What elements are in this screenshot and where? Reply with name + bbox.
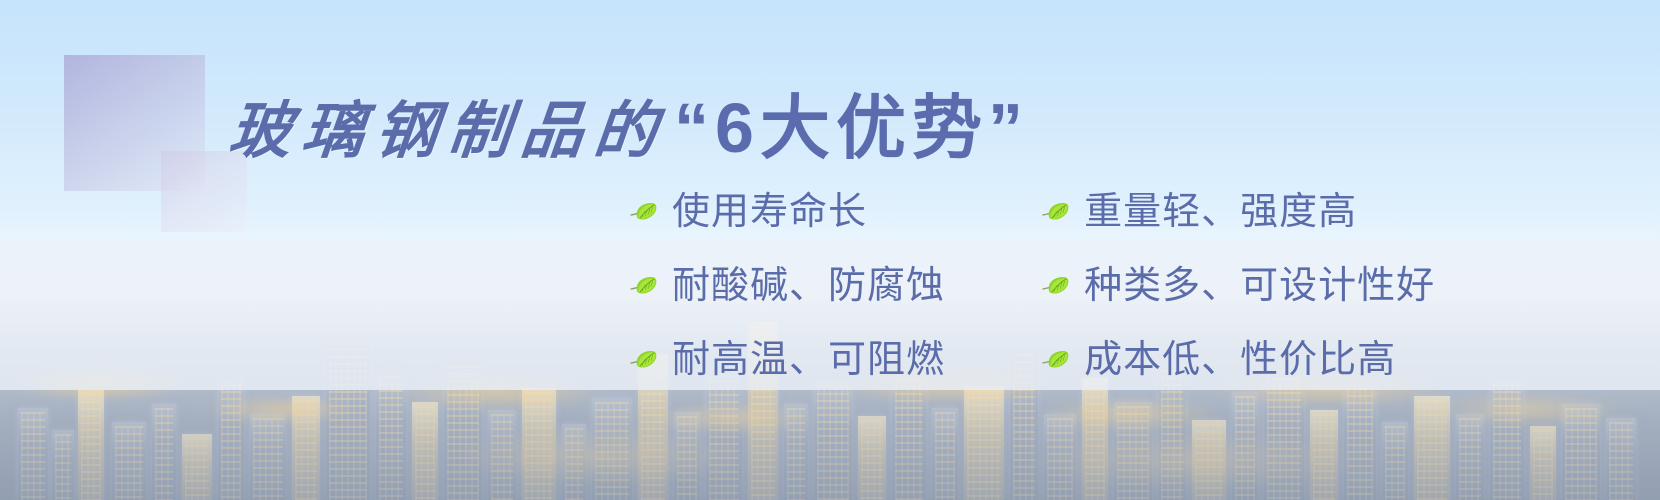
list-item: 成本低、性价比高 [1040,336,1458,384]
feature-label: 耐酸碱、防腐蚀 [672,267,945,305]
feature-column-right: 重量轻、强度高 种类多、可设计性好 [1040,188,1458,384]
banner-title-brush-text: 玻璃钢制品的 [225,80,672,170]
feature-list: 使用寿命长 耐酸碱、防腐蚀 [628,188,1458,384]
leaf-icon [628,201,658,223]
feature-label: 重量轻、强度高 [1084,193,1357,231]
leaf-icon [628,349,658,371]
city-foreground-shade [0,380,1660,500]
leaf-icon [1040,275,1070,297]
leaf-icon [1040,349,1070,371]
feature-label: 成本低、性价比高 [1084,341,1396,379]
feature-label: 耐高温、可阻燃 [672,341,945,379]
list-item: 耐酸碱、防腐蚀 [628,262,986,310]
banner-title-emphasis-text: “6大优势” [674,72,1029,173]
feature-label: 使用寿命长 [672,193,867,231]
list-item: 种类多、可设计性好 [1040,262,1458,310]
list-item: 使用寿命长 [628,188,986,236]
leaf-icon [628,275,658,297]
promo-banner: 玻璃钢制品的 “6大优势” 使用寿命长 [0,0,1660,500]
banner-title: 玻璃钢制品的 “6大优势” [230,72,1029,173]
feature-label: 种类多、可设计性好 [1084,267,1435,305]
list-item: 耐高温、可阻燃 [628,336,986,384]
list-item: 重量轻、强度高 [1040,188,1458,236]
leaf-icon [1040,201,1070,223]
feature-column-left: 使用寿命长 耐酸碱、防腐蚀 [628,188,986,384]
